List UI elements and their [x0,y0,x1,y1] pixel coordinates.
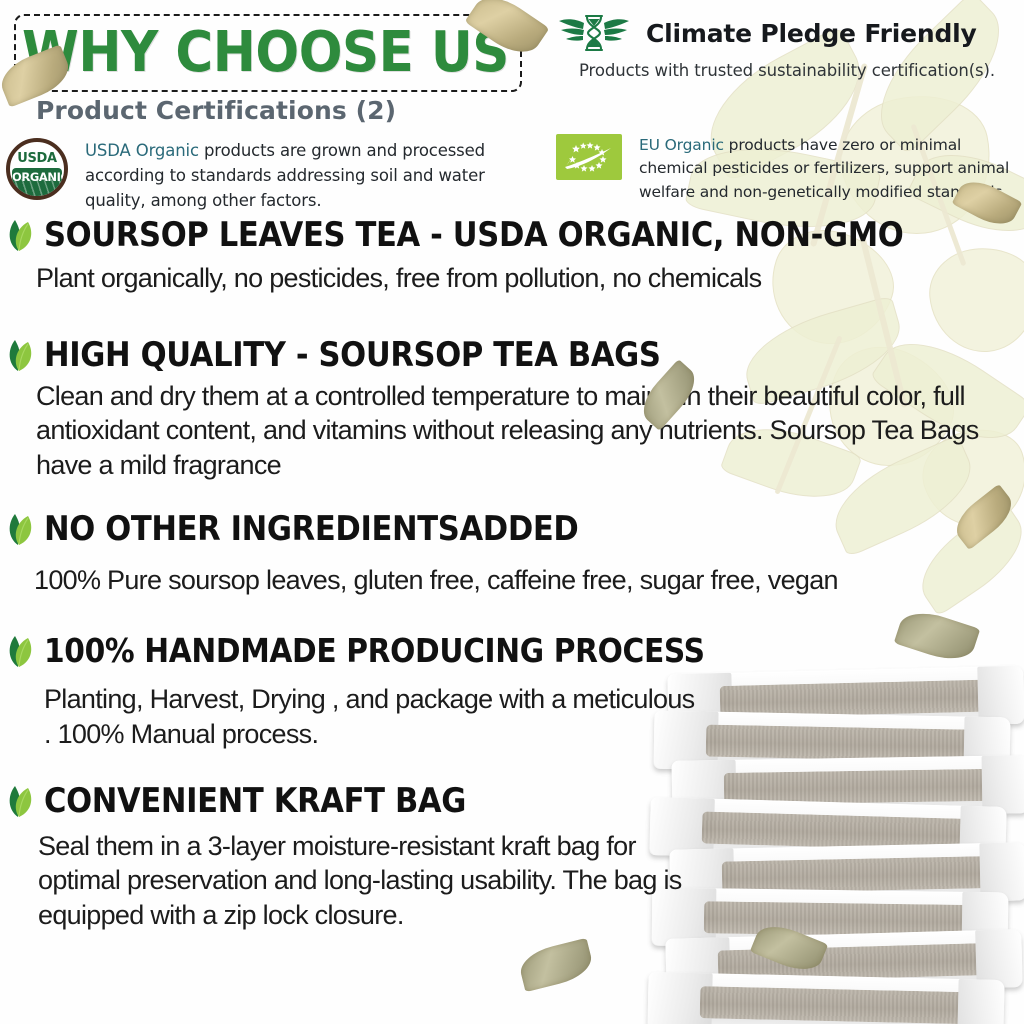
feature-block-kraft-bag: CONVENIENT KRAFT BAG Seal them in a 3-la… [6,784,706,932]
climate-pledge-title: Climate Pledge Friendly [646,19,977,48]
infographic-page: WHY CHOOSE US Product Certifications (2) [0,0,1024,1024]
feature-body: Planting, Harvest, Drying , and package … [44,682,706,751]
certification-row-eu: EU Organic products have zero or minimal… [556,134,1018,204]
feature-title: NO OTHER INGREDIENTSADDED [44,512,578,547]
feature-block-high-quality: HIGH QUALITY - SOURSOP TEA BAGS Clean an… [6,338,1024,482]
leaf-bullet-icon [6,338,36,372]
climate-pledge-hourglass-wings-icon [556,10,632,56]
feature-block-no-other-ingredients: NO OTHER INGREDIENTSADDED 100% Pure sour… [6,512,1024,597]
dried-leaf-decoration [750,918,828,978]
usda-seal-top-label: USDA [10,151,64,166]
dried-leaf-decoration [516,938,595,992]
climate-pledge-block: Climate Pledge Friendly Products with tr… [556,10,1018,80]
usda-organic-link[interactable]: USDA Organic [85,141,199,160]
feature-block-soursop-leaves-tea: SOURSOP LEAVES TEA - USDA ORGANIC, NON-G… [6,218,1024,295]
leaf-bullet-icon [6,784,36,818]
certifications-subtitle: Product Certifications (2) [36,96,396,125]
leaf-bullet-icon [6,218,36,252]
feature-body: Clean and dry them at a controlled tempe… [36,379,1024,483]
feature-title: HIGH QUALITY - SOURSOP TEA BAGS [44,338,661,373]
feature-block-handmade-process: 100% HANDMADE PRODUCING PROCESS Planting… [6,634,706,751]
feature-title: SOURSOP LEAVES TEA - USDA ORGANIC, NON-G… [44,218,903,253]
feature-title: CONVENIENT KRAFT BAG [44,784,466,819]
feature-title: 100% HANDMADE PRODUCING PROCESS [44,634,705,668]
feature-body: 100% Pure soursop leaves, gluten free, c… [34,563,1024,598]
usda-certification-text: USDA Organic products are grown and proc… [85,138,540,213]
leaf-bullet-icon [6,512,36,546]
certification-row-usda: USDA ORGANIC USDA Organic products are g… [6,138,540,213]
eu-organic-leaf-icon [556,134,622,204]
feature-body: Plant organically, no pesticides, free f… [36,261,1024,296]
leaf-bullet-icon [6,634,36,668]
climate-pledge-subtitle: Products with trusted sustainability cer… [556,61,1018,80]
eu-organic-link[interactable]: EU Organic [639,136,724,154]
dried-leaf-decoration [894,605,981,667]
feature-body: Seal them in a 3-layer moisture-resistan… [38,829,706,933]
page-title: WHY CHOOSE US [22,14,489,92]
usda-organic-seal-icon: USDA ORGANIC [6,138,68,213]
